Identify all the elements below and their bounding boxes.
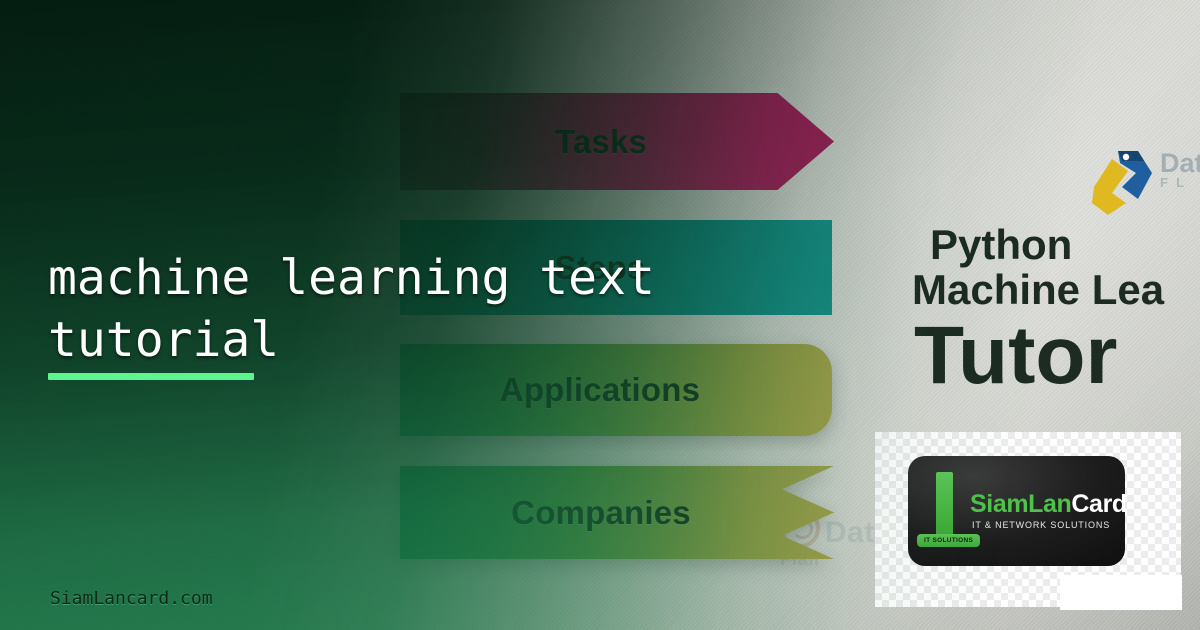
title-accent-rule [48, 373, 254, 380]
dataflair-logo-text: Dat F L [1160, 150, 1200, 190]
banner-label: Tasks [400, 123, 834, 161]
logo-text-sub: F L [1160, 177, 1200, 190]
banner-companies: Companies [400, 466, 834, 559]
logo-card-white-patch [1060, 575, 1182, 610]
source-headline-line2: Machine Lea [912, 267, 1200, 312]
source-image-headline: Python Machine Lea Tutor [930, 222, 1200, 399]
logo-it-solutions-badge: IT SOLUTIONS [917, 534, 980, 547]
dataflair-hex-logo-icon [1082, 143, 1160, 219]
source-headline-line3: Tutor [914, 313, 1200, 399]
page-title-line2: tutorial [48, 309, 748, 371]
site-footer-url: SiamLancard.com [50, 588, 213, 609]
logo-black-plate: IT SOLUTIONS SiamLanCard IT & NETWORK SO… [908, 456, 1125, 566]
logo-wordmark-first: SiamLan [970, 490, 1071, 518]
source-headline-line1: Python [930, 222, 1200, 267]
page-title: machine learning text tutorial [48, 247, 748, 372]
og-image-canvas: Data Flair Data Flair Tasks Steps Applic… [0, 0, 1200, 630]
banner-label: Companies [400, 494, 834, 532]
logo-tagline: IT & NETWORK SOLUTIONS [972, 520, 1110, 530]
banner-tasks: Tasks [400, 93, 834, 190]
logo-wordmark-second: Card [1071, 490, 1125, 518]
banner-label: Applications [400, 371, 832, 409]
logo-wordmark: SiamLanCard [970, 492, 1125, 517]
siamlancard-logo-card: IT SOLUTIONS SiamLanCard IT & NETWORK SO… [875, 432, 1181, 607]
logo-text-main: Dat [1160, 148, 1200, 178]
page-title-line1: machine learning text [48, 247, 748, 309]
